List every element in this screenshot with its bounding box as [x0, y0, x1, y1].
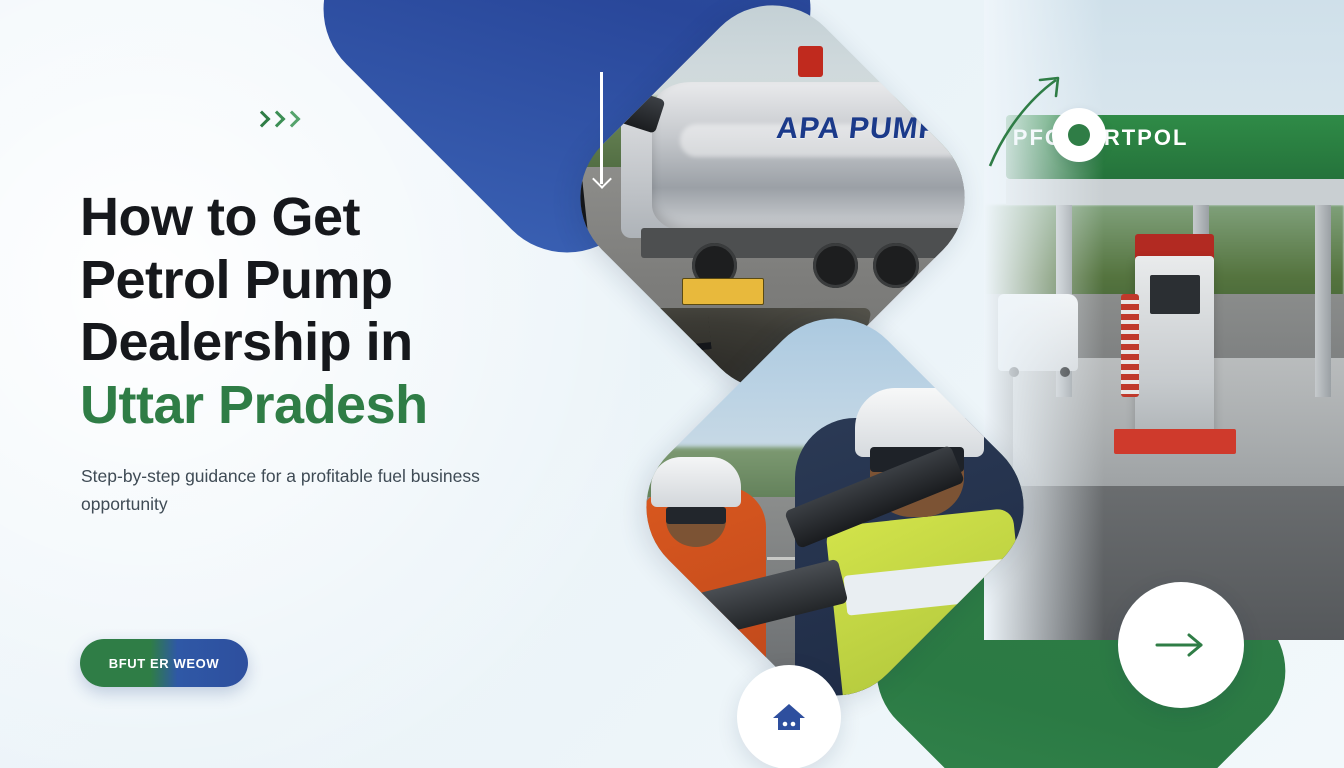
station-nozzles [1121, 294, 1139, 396]
headline-accent-line: Uttar Pradesh [80, 374, 600, 437]
worker-left-helmet [651, 457, 740, 507]
arrow-right-button[interactable] [1118, 582, 1244, 708]
station-pump-display [1150, 275, 1200, 313]
station-pump-base [1114, 429, 1236, 455]
home-icon [769, 699, 809, 735]
tanker-wheel [813, 243, 858, 288]
home-badge [737, 665, 841, 768]
tanker-photo-inner: APA PUMP [615, 40, 930, 355]
workers-photo-inner [680, 352, 990, 662]
chevron-right-icon [270, 108, 283, 134]
chevron-group [255, 108, 298, 134]
arrow-down-shaft [600, 72, 603, 184]
arrow-down-head [592, 169, 612, 189]
chevron-right-icon [285, 108, 298, 134]
headline-line-1: How to Get [80, 186, 600, 249]
subtitle: Step-by-step guidance for a profitable f… [81, 462, 481, 519]
arrow-down-icon [593, 72, 609, 200]
tanker-valve-cap [798, 46, 823, 76]
dot-fill [1068, 124, 1090, 146]
poster-canvas: PFOL PRTPOL APA PUMP [0, 0, 1344, 768]
chevron-right-icon [255, 108, 268, 134]
page-title: How to Get Petrol Pump Dealership in Utt… [80, 186, 600, 437]
headline-line-3: Dealership in [80, 311, 600, 374]
arrow-right-icon [1153, 630, 1209, 660]
dot-circle-icon [1052, 108, 1106, 162]
cta-button[interactable]: BFUT ER WEOW [80, 639, 248, 687]
headline-line-2: Petrol Pump [80, 249, 600, 312]
worker-left-glasses [666, 507, 726, 524]
station-column [1315, 205, 1331, 397]
